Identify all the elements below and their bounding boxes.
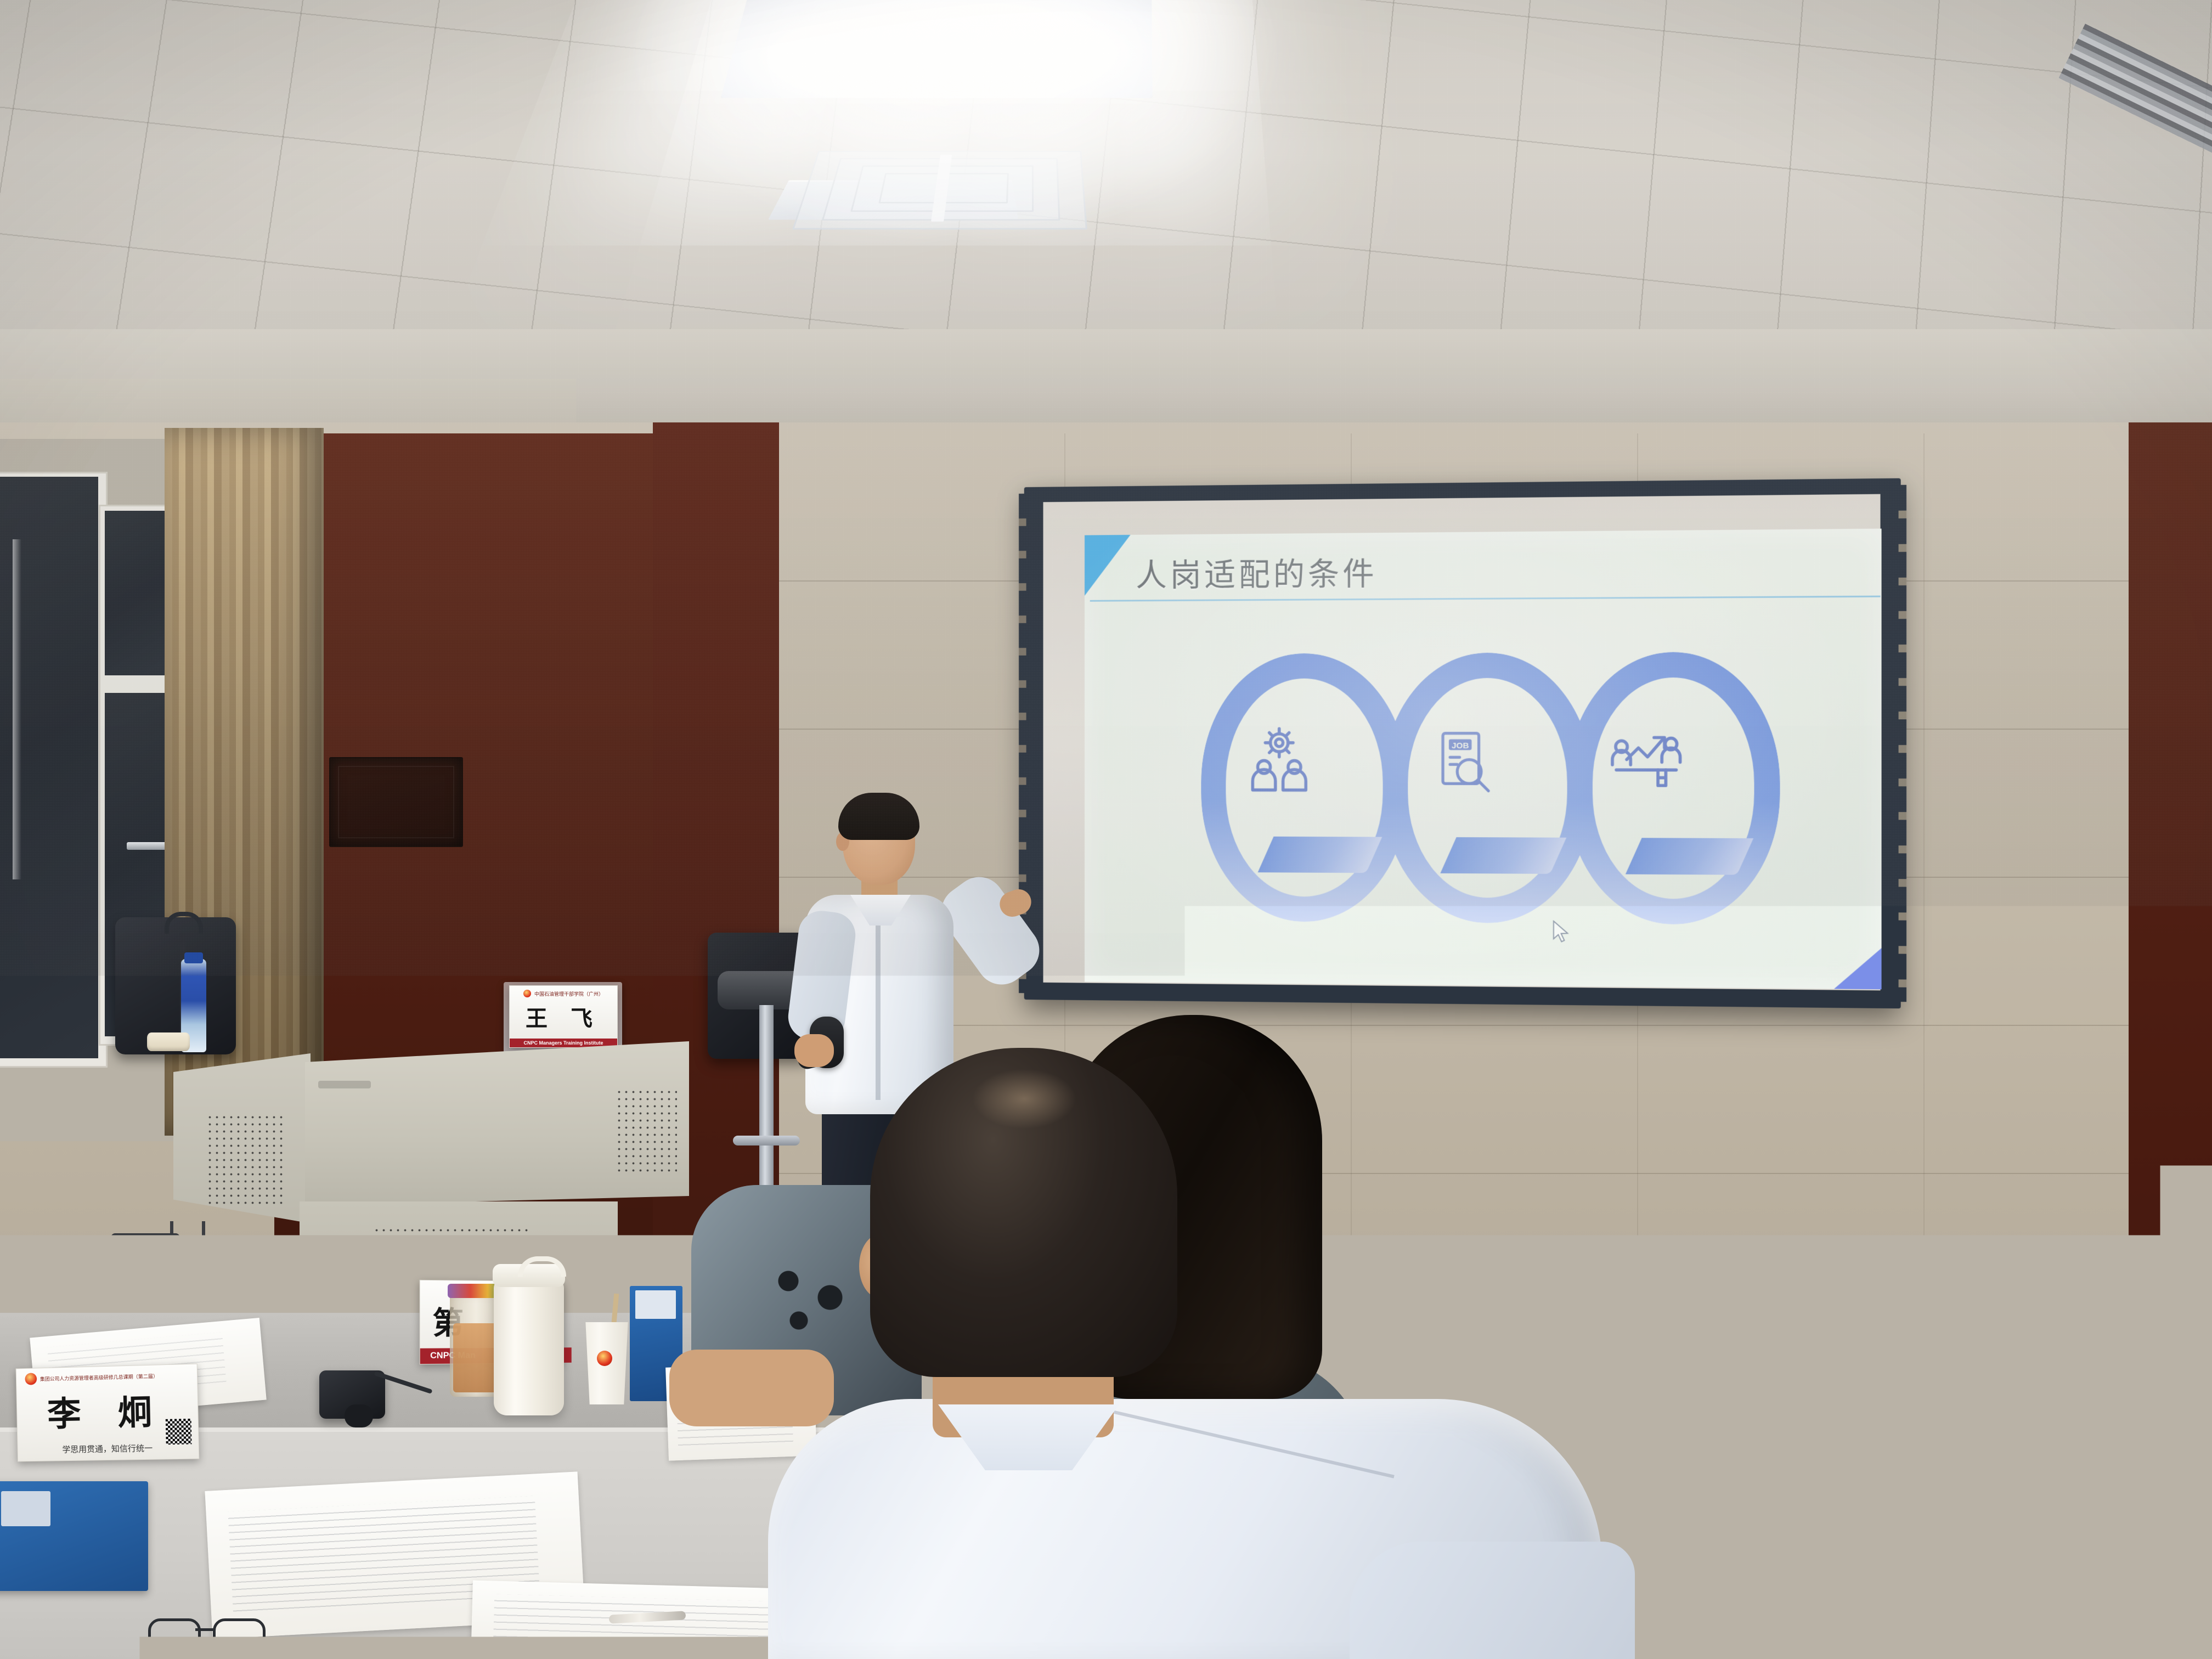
slide-item-1[interactable]: 企业简介 <box>1201 653 1358 910</box>
placard-header: 中国石油管理干部学院（广州） <box>534 990 603 997</box>
q-tail-shape <box>1440 837 1566 874</box>
people-growth-chart-icon <box>1602 718 1692 808</box>
projection-screen-surface: 人岗适配的条件 <box>1043 494 1881 991</box>
window-left <box>0 472 108 1068</box>
masking-tape-roll <box>147 1032 190 1051</box>
presentation-room-photo: 人岗适配的条件 <box>0 0 2212 1659</box>
water-bottle-cap <box>184 952 203 963</box>
q-tail-shape <box>1258 837 1383 873</box>
audience-member-man <box>757 1048 1646 1659</box>
slide-item-3[interactable]: 人才标准 <box>1567 652 1729 912</box>
lectern-speaker-grille <box>206 1114 283 1207</box>
placard-motto: 学思用贯通，知信行统一 <box>18 1441 199 1455</box>
people-gear-icon <box>1235 718 1323 806</box>
audience-man-arm <box>1569 1596 1679 1659</box>
svg-text:JOB: JOB <box>1452 741 1469 751</box>
placard-org: 集团公司人力资源管理者高级研修几总课期（第二届） <box>40 1372 158 1382</box>
wood-accent-wall-far-right <box>2129 422 2212 1267</box>
lectern-side-panel <box>173 1053 311 1223</box>
qr-code-icon <box>166 1419 192 1444</box>
microphone-head <box>345 1404 373 1427</box>
lectern-logo <box>318 1081 371 1088</box>
placard-name: 王 飞 <box>510 1001 617 1032</box>
placard-header-row: 中国石油管理干部学院（广州） <box>510 990 617 997</box>
eyeglasses <box>148 1618 274 1647</box>
q-tail-shape <box>1626 838 1753 874</box>
projection-screen-frame: 人岗适配的条件 <box>1024 478 1901 1009</box>
audience-man-scalp <box>972 1069 1076 1129</box>
cnpc-logo-icon <box>523 990 531 997</box>
ceiling-light-panel <box>721 0 1153 98</box>
slide-title-rule <box>1090 596 1881 602</box>
eyeglasses-lens <box>148 1618 201 1649</box>
lectern-front-panel <box>305 1041 689 1206</box>
eyeglasses-lens <box>213 1618 266 1649</box>
presenter-hair <box>838 793 919 840</box>
slide-corner-accent-bottom-icon <box>1834 947 1882 989</box>
slide-corner-accent-icon <box>1085 535 1131 596</box>
window-handle[interactable] <box>127 842 167 850</box>
lectern-name-placard: 中国石油管理干部学院（广州） 王 飞 CNPC Managers Trainin… <box>509 985 618 1048</box>
eyeglasses-bridge <box>195 1628 214 1631</box>
blue-brochure-foreground <box>0 1481 148 1591</box>
job-document-search-icon: JOB <box>1418 718 1506 806</box>
slide-item-2[interactable]: JOB 岗位资格 <box>1383 652 1542 911</box>
lectern-speaker-grille <box>616 1088 677 1176</box>
placard-footer: CNPC Managers Training Institute <box>510 1039 617 1047</box>
cnpc-logo-icon <box>25 1373 37 1385</box>
foreground-name-placard: 集团公司人力资源管理者高级研修几总课期（第二届） 李 炯 学思用贯通，知信行统一 <box>16 1364 200 1462</box>
hvac-square-diffuser <box>793 151 1084 227</box>
wall-mounted-panel <box>329 757 463 847</box>
presentation-slide[interactable]: 人岗适配的条件 <box>1085 529 1882 990</box>
cnpc-logo-icon <box>597 1351 612 1366</box>
thermos-bottle <box>494 1278 564 1415</box>
slide-title: 人岗适配的条件 <box>1136 548 1377 595</box>
snack-contents <box>453 1323 499 1392</box>
placard-header-row: 集团公司人力资源管理者高级研修几总课期（第二届） <box>16 1369 198 1385</box>
trash-bin-lid <box>111 1233 180 1248</box>
